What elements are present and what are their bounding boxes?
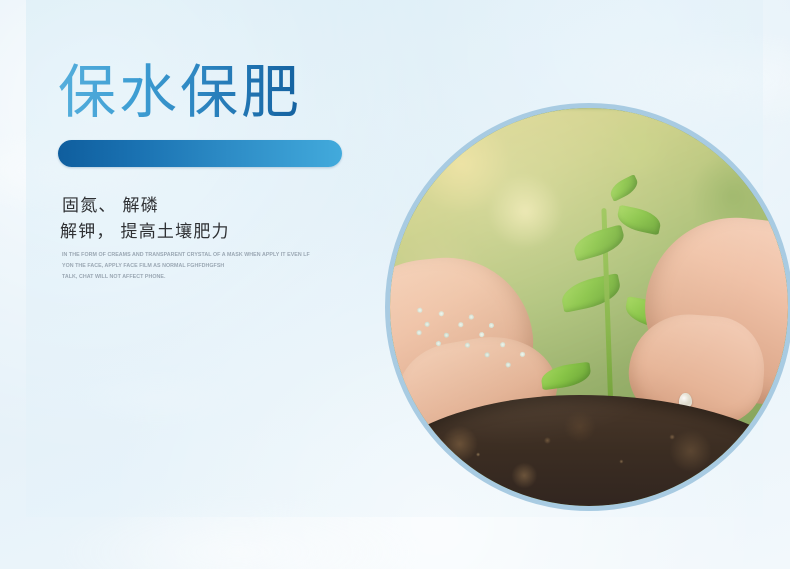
soil-mound: [390, 395, 788, 506]
hero-photo: [390, 108, 788, 506]
subtitle-line-2: 解钾， 提高土壤肥力: [60, 219, 230, 245]
fineprint-line-2: YON THE FACE, APPLY FACE FILM AS NORMAL …: [62, 261, 310, 272]
fineprint-line-1: IN THE FORM OF CREAMS AND TRANSPARENT CR…: [62, 250, 310, 261]
accent-bar: [58, 140, 342, 167]
fineprint-block: IN THE FORM OF CREAMS AND TRANSPARENT CR…: [62, 250, 310, 283]
promo-banner: 保水保肥 固氮、 解磷 解钾， 提高土壤肥力 IN THE FORM OF CR…: [0, 0, 790, 569]
fineprint-line-3: TALK, CHAT WILL NOT AFFECT PHONE.: [62, 272, 310, 283]
page-title: 保水保肥: [58, 62, 302, 125]
subtitle-line-1: 固氮、 解磷: [62, 193, 230, 219]
subtitle-block: 固氮、 解磷 解钾， 提高土壤肥力: [62, 193, 230, 246]
soil-texture: [390, 395, 788, 506]
hero-photo-circle: [385, 103, 790, 511]
